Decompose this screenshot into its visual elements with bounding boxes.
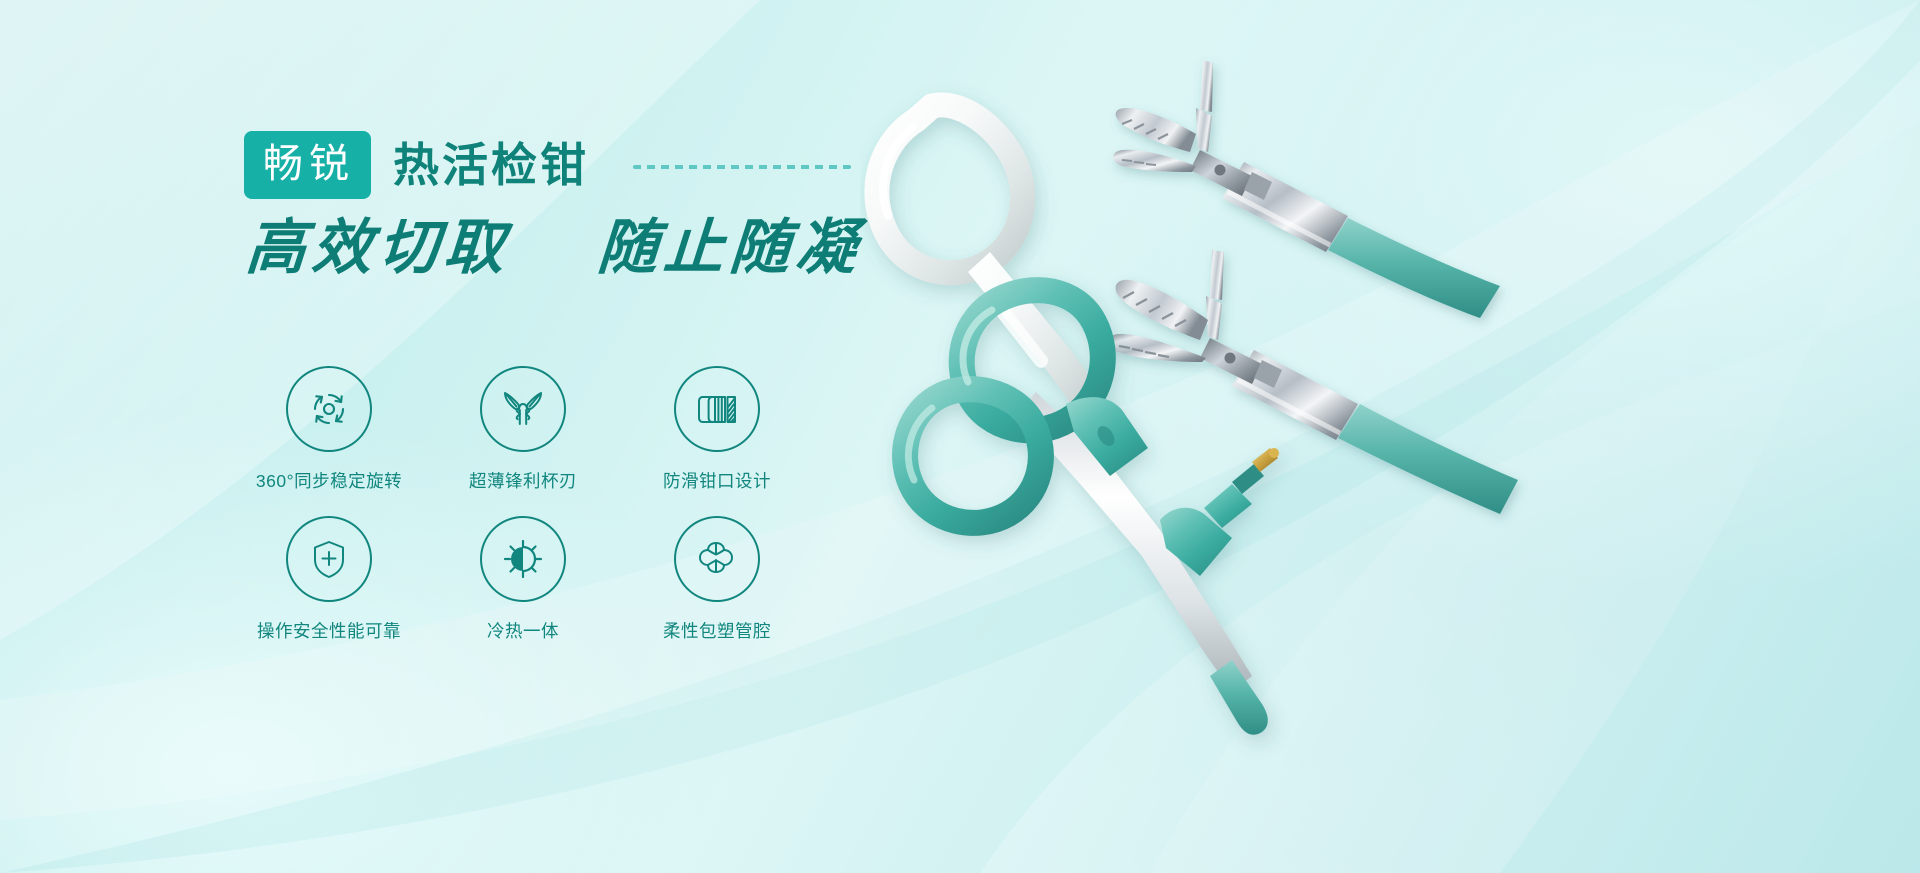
title-row: 畅锐 热活检钳 [244, 131, 851, 199]
safety-shield-icon [286, 516, 372, 602]
forceps-handle-assembly [877, 105, 1279, 735]
hot-cold-integrated-icon [480, 516, 566, 602]
forceps-tip-upper [1113, 60, 1500, 318]
feature-item: 冷热一体 [426, 516, 620, 666]
product-banner: 畅锐 热活检钳 高效切取 随止随凝 [0, 0, 1920, 873]
feature-label: 防滑钳口设计 [663, 468, 771, 493]
feature-item: 超薄锋利杯刃 [426, 366, 620, 516]
slogan: 高效切取 随止随凝 [244, 216, 864, 281]
thin-sharp-cup-blade-icon [480, 366, 566, 452]
brand-badge: 畅锐 [244, 131, 371, 199]
feature-label: 柔性包塑管腔 [663, 618, 771, 643]
flexible-coated-lumen-icon [674, 516, 760, 602]
anti-slip-jaw-icon [674, 366, 760, 452]
feature-item: 柔性包塑管腔 [620, 516, 814, 666]
feature-label: 360°同步稳定旋转 [256, 468, 402, 493]
feature-item: 360°同步稳定旋转 [232, 366, 426, 516]
dotted-rule-divider [633, 165, 851, 169]
product-image [860, 0, 1920, 873]
feature-label: 超薄锋利杯刃 [469, 468, 577, 493]
slogan-part-1: 高效切取 [244, 213, 513, 283]
rotation-360-icon [286, 366, 372, 452]
feature-item: 操作安全性能可靠 [232, 516, 426, 666]
feature-label: 操作安全性能可靠 [257, 618, 401, 643]
page-title: 热活检钳 [393, 142, 589, 188]
feature-item: 防滑钳口设计 [620, 366, 814, 516]
feature-label: 冷热一体 [487, 618, 559, 643]
feature-grid: 360°同步稳定旋转 超薄 [232, 366, 814, 666]
banner-content: 畅锐 热活检钳 高效切取 随止随凝 [0, 0, 900, 873]
slogan-part-2: 随止随凝 [595, 213, 864, 283]
